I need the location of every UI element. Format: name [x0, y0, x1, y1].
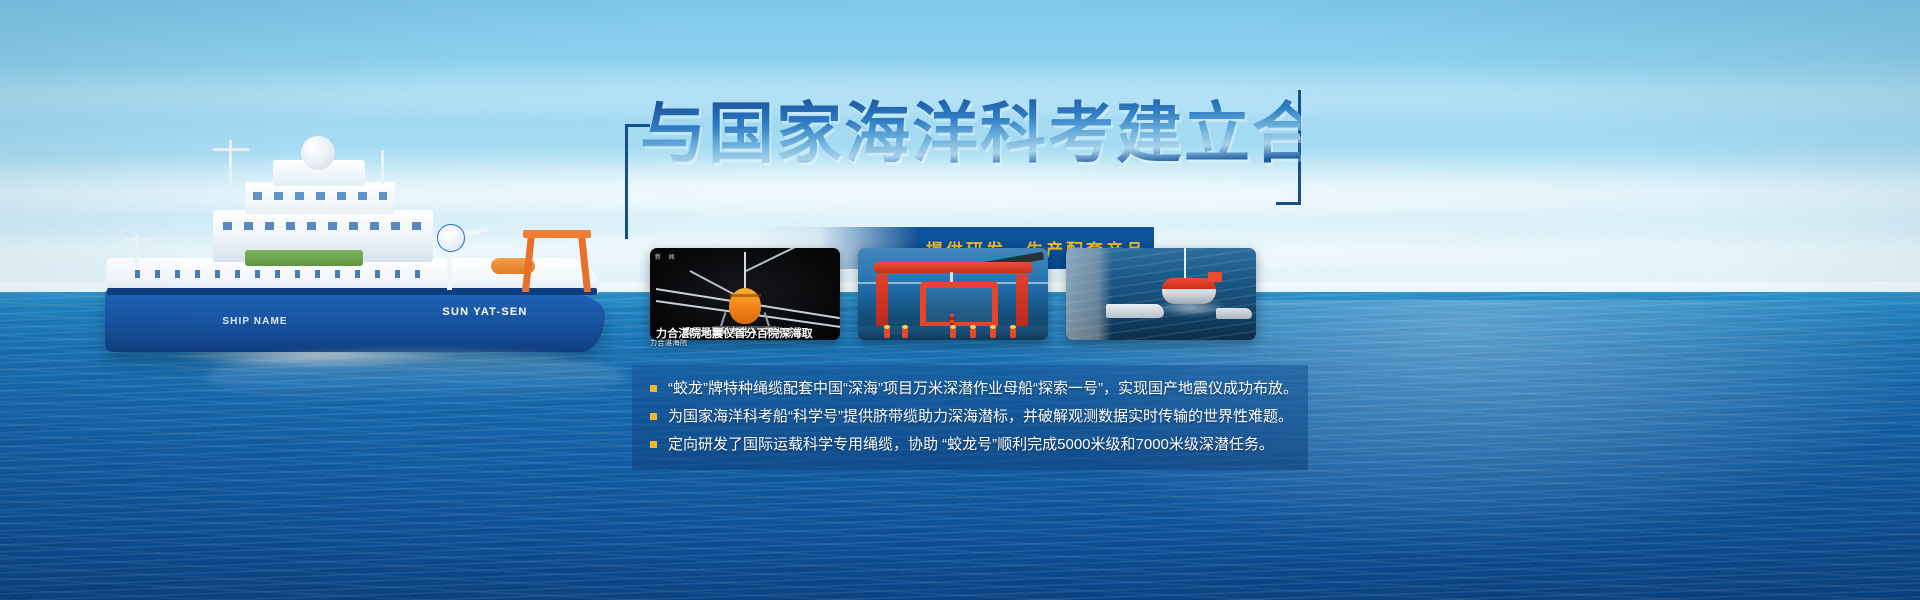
- ship-name-starboard: SUN YAT-SEN: [415, 306, 555, 318]
- list-item-text: 定向研发了国际运载科学专用绳缆，协助 “蛟龙号”顺利完成5000米级和7000米…: [668, 434, 1274, 455]
- ship-reflection: [205, 350, 625, 404]
- cable-sling-right-icon: [746, 248, 799, 272]
- crew-helmet-icon: [990, 325, 996, 329]
- ship-portholes: [135, 270, 435, 278]
- deployment-line-icon: [1184, 248, 1186, 280]
- crew-helmet-icon: [1010, 325, 1016, 329]
- bullet-square-icon: [650, 441, 657, 448]
- support-boat-right-icon: [1216, 308, 1252, 319]
- ship-radome: [301, 136, 335, 170]
- vessel-side-edge: [1066, 248, 1112, 340]
- support-boat-left-icon: [1106, 304, 1164, 318]
- bullet-square-icon: [650, 385, 657, 392]
- list-item: 定向研发了国际运载科学专用绳缆，协助 “蛟龙号”顺利完成5000米级和7000米…: [650, 434, 1290, 455]
- banner-stage: SUN YAT-SEN SHIP NAME 与国家海洋科考建立合作 提供研发、生…: [0, 0, 1920, 600]
- ship-window-row-upper: [253, 192, 387, 200]
- hoist-line-icon: [744, 252, 746, 288]
- thumbnail-research-vessel-red-crane[interactable]: [858, 248, 1048, 340]
- list-item: “蛟龙”牌特种绳缆配套中国“深海”项目万米深潜作业母船“探索一号”，实现国产地震…: [650, 378, 1290, 399]
- ship-mast-crossbar: [213, 148, 249, 151]
- crew-helmet-icon: [902, 325, 908, 329]
- thumbnail-submersible-deployment[interactable]: [1066, 248, 1256, 340]
- crew-member-icon: [1010, 328, 1016, 338]
- lifting-frame-icon: [920, 282, 998, 328]
- list-item: 为国家海洋科考船“科学号”提供脐带缆助力深海潜标，并破解观测数据实时传输的世界性…: [650, 406, 1290, 427]
- page-title: 与国家海洋科考建立合作: [640, 96, 1300, 172]
- ship-aframe-top: [523, 230, 591, 238]
- list-item-text: 为国家海洋科考船“科学号”提供脐带缆助力深海潜标，并破解观测数据实时传输的世界性…: [668, 406, 1293, 427]
- crew-helmet-icon: [950, 325, 956, 329]
- research-vessel-illustration: SUN YAT-SEN SHIP NAME: [95, 138, 615, 368]
- ship-name-port: SHIP NAME: [195, 316, 315, 327]
- submersible-band-icon: [729, 294, 761, 297]
- overlay-headline: 力合湛院地震仪首分百院深海取: [656, 325, 886, 341]
- bullet-square-icon: [650, 413, 657, 420]
- highlights-panel: “蛟龙”牌特种绳缆配套中国“深海”项目万米深潜作业母船“探索一号”，实现国产地震…: [632, 365, 1308, 470]
- news-corner-label: 新 闻: [655, 252, 678, 261]
- headline-block: 与国家海洋科考建立合作: [640, 96, 1300, 176]
- crew-member-icon: [902, 328, 908, 338]
- gantry-top-beam-icon: [874, 262, 1032, 273]
- ship-mast-aft: [381, 150, 384, 184]
- ship-helideck: [245, 250, 363, 266]
- crew-member-icon: [970, 328, 976, 338]
- gantry-leg-left-icon: [876, 274, 888, 332]
- list-item-text: “蛟龙”牌特种绳缆配套中国“深海”项目万米深潜作业母船“探索一号”，实现国产地震…: [668, 378, 1298, 399]
- submersible-fin-icon: [1208, 272, 1222, 282]
- crew-member-icon: [990, 328, 996, 338]
- ship-window-row-lower: [223, 222, 423, 230]
- ship-mast-fore: [229, 140, 232, 186]
- gantry-leg-right-icon: [1016, 274, 1028, 332]
- ship-funnel-emblem: [437, 224, 465, 252]
- ship-hull: [105, 290, 605, 352]
- crew-member-icon: [950, 328, 956, 338]
- ship-bow-mast-crossbar: [123, 238, 151, 241]
- crew-helmet-icon: [970, 325, 976, 329]
